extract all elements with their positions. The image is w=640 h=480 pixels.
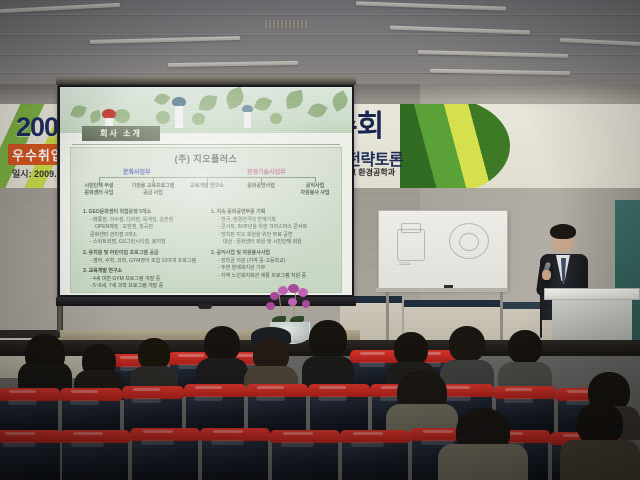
auditorium-seat[interactable] (272, 430, 338, 480)
auditorium-seat[interactable] (202, 428, 268, 480)
microphone-cable (540, 276, 542, 338)
presentation-slide: 회사 소개 (주) 지오플러스 문화사업부 환경기술사업부 시민단체 부설문화센 (60, 87, 352, 295)
org-chart-box: 문화공연사업 (238, 183, 284, 190)
photo-lecture-hall-presentation: 200 우수취업 일시: 2009. 수회 공전략토론 대학교 환경공학과 ≈≈… (0, 0, 640, 480)
leaf-icon (254, 95, 273, 114)
slide-text-line: - 콘서트, 50주년을 위한 크리스마스 콘서트 (211, 224, 339, 232)
auditorium-seat[interactable] (342, 430, 408, 480)
slide-text-line: - 주변 장애복지관 기부 (211, 265, 339, 273)
org-chart-box: 공익사업자원봉사 사업 (292, 183, 338, 197)
whiteboard-sketch-left (397, 229, 425, 261)
tree-icon (114, 109, 130, 123)
slide-divider (72, 144, 340, 145)
slide-text-line: 1. 지속 문화공연부문 기획 (211, 209, 339, 217)
leaf-icon (70, 103, 87, 120)
whiteboard-sketch-left-detail (401, 223, 421, 233)
auditorium-seat[interactable] (310, 384, 368, 434)
company-name: (주) 지오플러스 (71, 152, 341, 165)
fluorescent-light-fixture (430, 69, 570, 75)
ceiling (0, 0, 640, 86)
orchid-flower (302, 300, 310, 308)
auditorium-seat[interactable] (186, 384, 244, 434)
fluorescent-light-fixture (418, 50, 568, 58)
whiteboard-marker-tray (376, 288, 508, 292)
projection-screen-roller (56, 76, 356, 85)
slide-text-line: - 스위트리점, GS그린시티점, 봉지점 (83, 239, 211, 247)
projection-screen-pull-knob[interactable] (198, 304, 212, 309)
mushroom-house-icon (102, 109, 116, 127)
fluorescent-light-fixture (168, 61, 298, 67)
slide-text-column-right: 1. 지속 문화공연부문 기획- 연극, 환경연극의 연계기획- 콘서트, 50… (211, 206, 339, 280)
slide-text-line: 대상 : 문화센터 회원 및 시민단체 회원 (211, 239, 339, 247)
banner-date-text: 일시: 2009. (12, 167, 57, 180)
podium-surface (544, 288, 640, 300)
audience-member (196, 326, 248, 392)
leaf-icon (285, 90, 304, 109)
whiteboard-scribble-left: ≈≈≈ (399, 261, 411, 268)
banner-graphic-right (400, 104, 510, 188)
fluorescent-light-fixture (560, 38, 640, 46)
org-chart-box: 기관용 교육프로그램공급 사업 (130, 183, 176, 197)
mushroom-house-icon (242, 105, 253, 127)
orchid-flower (288, 298, 297, 306)
slide-text-line: OPEN예정 : 모현점, 월곡점 (83, 224, 211, 232)
leaf-icon (199, 94, 218, 113)
slide-title-bar: 회사 소개 (82, 126, 160, 141)
slide-title: 회사 소개 (100, 128, 142, 139)
audience-member (498, 330, 552, 394)
fluorescent-light-fixture (0, 3, 120, 13)
audience-member (438, 408, 528, 480)
slide-text-line: 2. 유치원 및 어린이집 프로그램 공급 (83, 250, 211, 258)
fluorescent-light-fixture (356, 1, 506, 10)
division-label-right: 환경기술사업부 (247, 167, 286, 176)
tree-icon (156, 111, 170, 124)
division-label-left: 문화사업부 (123, 167, 151, 176)
mushroom-house-icon (172, 97, 186, 127)
leaf-icon (329, 90, 351, 112)
auditorium-seat[interactable] (132, 428, 198, 480)
slide-content-area: (주) 지오플러스 문화사업부 환경기술사업부 시민단체 부설문화센터 사업 기… (70, 147, 342, 293)
slide-text-line: - 5~6세, 7세 과학 프로그램 개발 중 (83, 283, 211, 291)
orchid-flower (298, 288, 308, 297)
orchid-flower (278, 286, 288, 295)
whiteboard: ≈≈≈ (378, 210, 508, 290)
projection-screen-frame: 회사 소개 (주) 지오플러스 문화사업부 환경기술사업부 시민단체 부설문화센 (58, 85, 354, 297)
projection-screen-surface: 회사 소개 (주) 지오플러스 문화사업부 환경기술사업부 시민단체 부설문화센 (60, 87, 352, 295)
org-chart-box: 교육개발 연구소 (184, 183, 230, 190)
leaf-icon (89, 110, 102, 123)
whiteboard-marker[interactable] (444, 285, 453, 288)
slide-text-column-left: 1. GEO문화센터 직접운영 5개소- 태릉점, 이수점, 디자점, 목계점,… (83, 206, 211, 291)
auditorium-seat[interactable] (248, 384, 306, 434)
leaf-icon (307, 100, 327, 120)
slide-text-line: - 지역 노인복지회관 재활 프로그램 지원 중 (211, 273, 339, 281)
slide-text-line: - 영어, 수학, 과학, GYM영어 포함 10여개 프로그램 (83, 258, 211, 266)
banner-year-text: 200 (16, 114, 58, 141)
ceiling-vent-icon (265, 20, 307, 29)
tree-icon (270, 113, 282, 124)
fluorescent-light-fixture (90, 36, 240, 44)
slide-text-line: 3. 교육개발 연구소 (83, 268, 211, 276)
orchid-flower (270, 292, 279, 300)
org-chart-box: 시민단체 부설문화센터 사업 (76, 183, 122, 197)
projection-screen-assembly: 회사 소개 (주) 지오플러스 문화사업부 환경기술사업부 시민단체 부설문화센 (56, 76, 356, 304)
auditorium-seat[interactable] (62, 430, 128, 480)
slide-text-line: 1. GEO문화센터 직접운영 5개소 (83, 209, 211, 217)
audience-member (302, 320, 354, 390)
presenter-hair (550, 224, 576, 239)
presenter-hand (542, 270, 551, 280)
auditorium-seat[interactable] (0, 430, 60, 480)
orchid-flower (266, 302, 275, 310)
whiteboard-sketch-right-detail (459, 233, 479, 251)
audience-member (18, 334, 72, 396)
tree-icon (192, 113, 205, 125)
leaf-icon (154, 91, 171, 108)
slide-text-line: 2. 공익사업 및 자원봉사사업 (211, 250, 339, 258)
audience-member (560, 402, 640, 480)
